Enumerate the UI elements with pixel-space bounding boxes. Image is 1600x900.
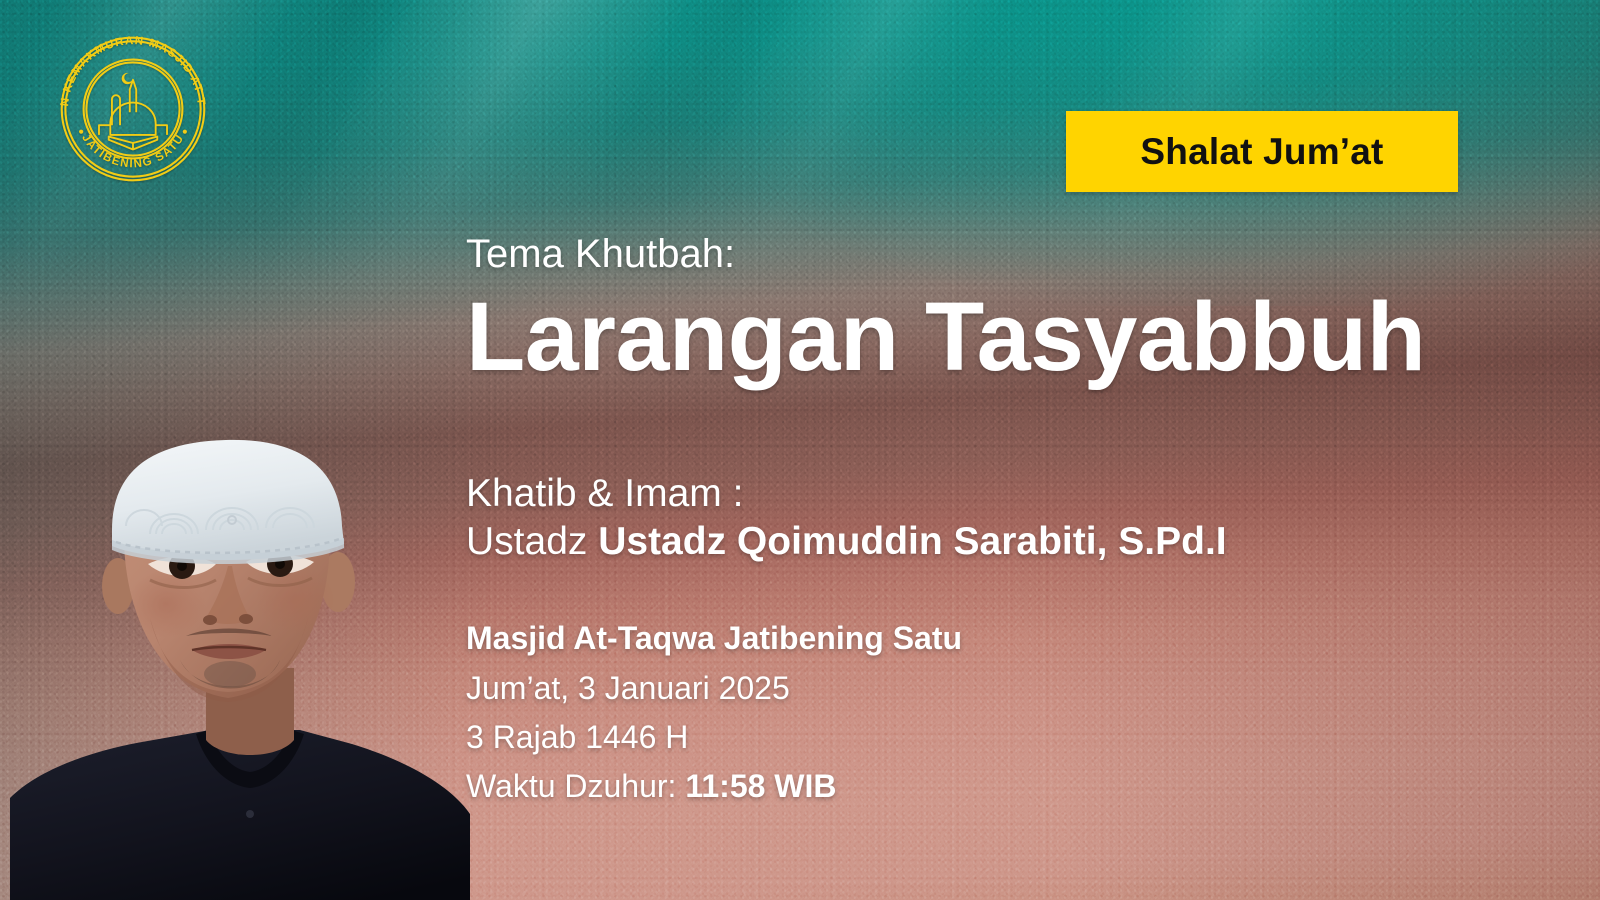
spacer-before-details — [466, 566, 1476, 614]
khatib-name-value: Ustadz Qoimuddin Sarabiti, S.Pd.I — [598, 520, 1226, 563]
venue-line: Masjid At-Taqwa Jatibening Satu — [466, 614, 1476, 663]
khutbah-theme-label: Tema Khutbah: — [466, 232, 1476, 277]
poster-canvas: DEWAN KEMAKMURAN MASJID AT-TAQWA JATIBEN… — [0, 0, 1600, 900]
dzuhur-time-value: 11:58 WIB — [685, 768, 836, 804]
shalat-jumat-badge[interactable]: Shalat Jum’at — [1066, 111, 1458, 192]
spacer-after-title — [466, 388, 1476, 470]
dkm-at-taqwa-logo: DEWAN KEMAKMURAN MASJID AT-TAQWA JATIBEN… — [52, 28, 214, 190]
mosque-dome-minaret-crescent-icon — [99, 73, 167, 150]
khutbah-title: Larangan Tasyabbuh — [466, 287, 1476, 388]
dzuhur-time-line: Waktu Dzuhur: 11:58 WIB — [466, 762, 1476, 811]
logo-dot-right — [183, 130, 187, 134]
khatib-imam-label: Khatib & Imam : — [466, 470, 1476, 518]
khatib-imam-name: Ustadz Ustadz Qoimuddin Sarabiti, S.Pd.I — [466, 518, 1476, 566]
poster-content: Tema Khutbah: Larangan Tasyabbuh Khatib … — [466, 232, 1476, 811]
hijri-date-line: 3 Rajab 1446 H — [466, 713, 1476, 762]
khatib-prefix: Ustadz — [466, 520, 598, 563]
logo-dot-left — [79, 130, 83, 134]
badge-label: Shalat Jum’at — [1140, 131, 1383, 173]
dzuhur-time-label: Waktu Dzuhur: — [466, 768, 685, 804]
gregorian-date-line: Jum’at, 3 Januari 2025 — [466, 664, 1476, 713]
